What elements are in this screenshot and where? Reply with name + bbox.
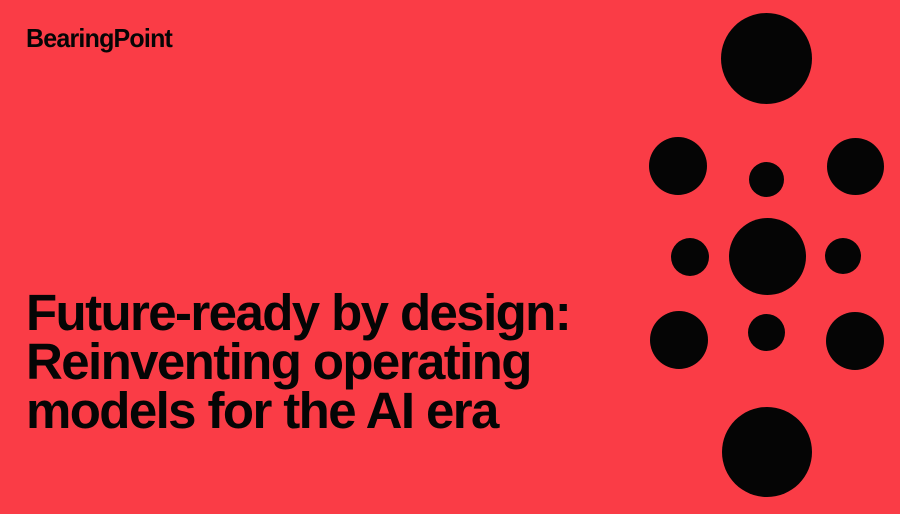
dot-r5-c2-icon: [722, 407, 812, 497]
headline-line-2: Reinventing operating: [26, 337, 626, 386]
headline-line-3: models for the AI era: [26, 386, 626, 435]
page-title: Future-ready by design: Reinventing oper…: [26, 288, 626, 435]
bearingpoint-logo[interactable]: BearingPoint: [26, 23, 218, 53]
dot-r2-c3-icon: [827, 138, 884, 195]
dot-r1-c2-icon: [721, 13, 812, 104]
dot-r4-c2-icon: [748, 314, 785, 351]
dot-r2-c2-icon: [749, 162, 784, 197]
dot-r3-c1-icon: [671, 238, 709, 276]
dot-r3-c3-icon: [825, 238, 861, 274]
dot-r2-c1-icon: [649, 137, 707, 195]
dot-r3-c2-icon: [729, 218, 806, 295]
dot-r4-c1-icon: [650, 311, 708, 369]
marketing-banner: BearingPoint Future-ready by design: Rei…: [0, 0, 900, 514]
dot-r4-c3-icon: [826, 312, 884, 370]
headline-line-1: Future-ready by design:: [26, 288, 626, 337]
